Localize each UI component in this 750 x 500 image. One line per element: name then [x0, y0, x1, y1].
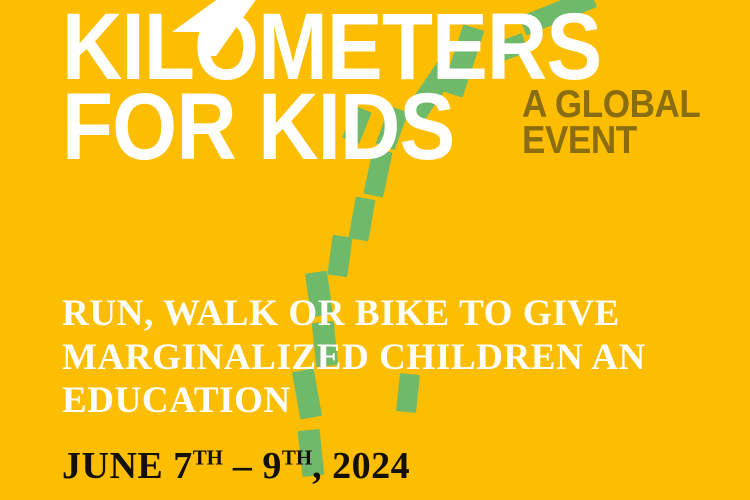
date-day-start: 7 — [173, 445, 193, 487]
date-separator: – — [233, 445, 253, 487]
date-day-end-suffix: TH — [282, 445, 312, 469]
tagline-line-1: RUN, WALK OR BIKE TO GIVE — [62, 292, 702, 336]
subtitle-line-a-global: A GLOBAL — [522, 87, 700, 123]
headline-row-secondary: FOR KIDS A GLOBAL EVENT — [62, 87, 722, 167]
date-year: , 2024 — [312, 445, 410, 487]
tagline-line-2: MARGINALIZED CHILDREN AN — [62, 336, 702, 380]
green-confetti-dash — [327, 235, 352, 277]
tagline-line-3: EDUCATION — [62, 379, 702, 423]
event-date: JUNE 7TH – 9TH, 2024 — [62, 444, 410, 488]
green-confetti-dash — [349, 197, 376, 242]
subtitle-line-event: EVENT — [522, 123, 700, 159]
date-day-end: 9 — [262, 445, 282, 487]
headline-line-for-kids: FOR KIDS — [62, 88, 454, 167]
date-day-start-suffix: TH — [193, 445, 223, 469]
subtitle-block: A GLOBAL EVENT — [522, 87, 700, 167]
tagline-block: RUN, WALK OR BIKE TO GIVE MARGINALIZED C… — [62, 292, 702, 423]
event-poster: KILOMETERS FOR KIDS A GLOBAL EVENT RUN, … — [0, 0, 750, 500]
date-month: JUNE — [62, 445, 163, 487]
headline-block: KILOMETERS FOR KIDS A GLOBAL EVENT — [62, 8, 722, 167]
